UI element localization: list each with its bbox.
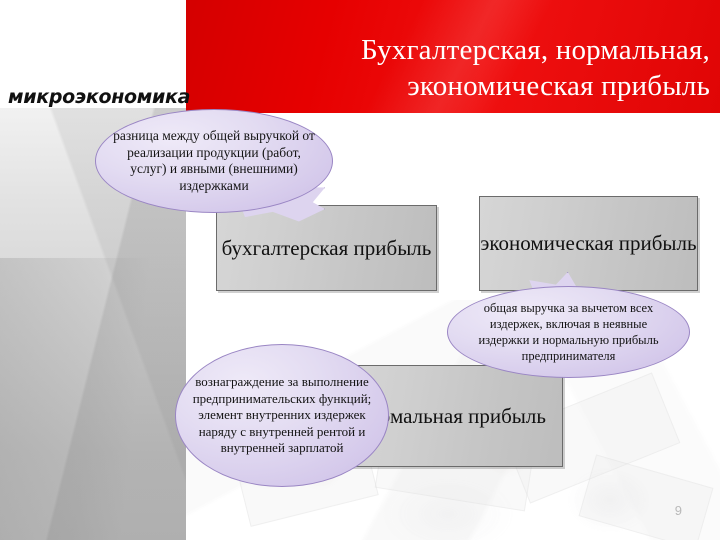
slide-number: 9: [675, 503, 682, 518]
page-title-line-1: Бухгалтерская, нормальная,: [196, 32, 710, 68]
callout-bubble-normal-profit[interactable]: вознаграждение за выполнение предпринима…: [175, 344, 389, 487]
subject-label: микроэкономика: [8, 85, 180, 110]
callout-bubble-normal-profit-text: вознаграждение за выполнение предпринима…: [176, 374, 388, 457]
callout-bubble-accounting-profit-text: разница между общей выручкой от реализац…: [96, 128, 332, 194]
banknote-shape: [579, 454, 714, 540]
callout-bubble-economic-profit[interactable]: общая выручка за вычетом всех издержек, …: [447, 286, 690, 378]
page-title-line-2: экономическая прибыль: [196, 68, 710, 104]
page-title: Бухгалтерская, нормальная, экономическая…: [196, 32, 710, 104]
concept-box-accounting-profit[interactable]: бухгалтерская прибыль: [216, 205, 437, 291]
concept-box-economic-profit[interactable]: экономическая прибыль: [479, 196, 698, 291]
callout-bubble-economic-profit-text: общая выручка за вычетом всех издержек, …: [448, 300, 689, 364]
concept-box-accounting-profit-label: бухгалтерская прибыль: [222, 235, 432, 262]
callout-bubble-accounting-profit[interactable]: разница между общей выручкой от реализац…: [95, 109, 333, 213]
concept-box-economic-profit-label: экономическая прибыль: [480, 230, 696, 257]
presentation-slide: Бухгалтерская, нормальная, экономическая…: [0, 0, 720, 540]
